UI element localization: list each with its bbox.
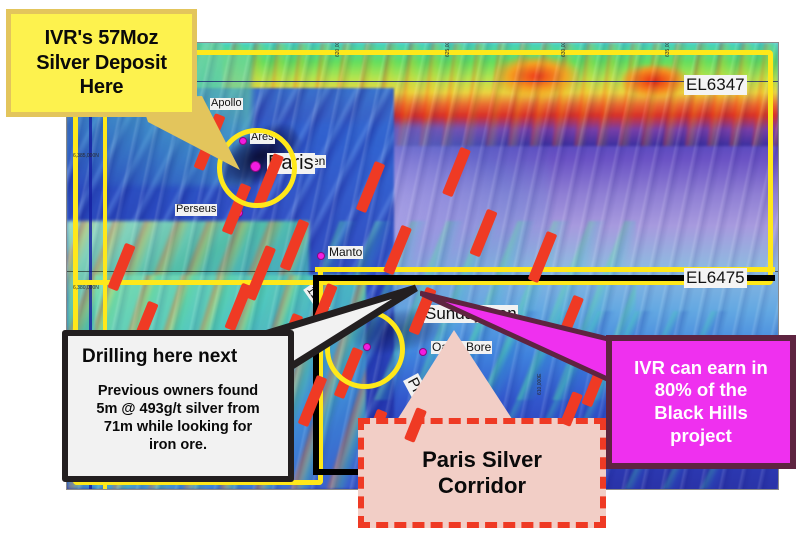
- drilling-body-line-3: 71m while looking for: [78, 418, 278, 436]
- ivr-deposit-callout[interactable]: IVR's 57Moz Silver Deposit Here: [6, 9, 197, 117]
- coord-label-6385000N: 6,385,000N: [73, 153, 99, 159]
- drilling-callout-body: Previous owners found 5m @ 493g/t silver…: [78, 382, 278, 455]
- drilling-callout-heading: Drilling here next: [78, 347, 278, 368]
- corridor-callout-text: Paris Silver Corridor: [422, 447, 542, 500]
- map-gridline-mid: [67, 271, 778, 272]
- drilling-callout[interactable]: Drilling here next Previous owners found…: [62, 330, 294, 482]
- coord-label-630000E: 635,000E: [665, 42, 671, 57]
- coord-label-620000E: 625,000E: [445, 42, 451, 57]
- map-label-perseus: Perseus: [175, 204, 217, 216]
- ivr-deposit-line-1: IVR's 57Moz: [36, 26, 167, 50]
- corridor-line-1: Paris Silver: [422, 447, 542, 473]
- earn-in-line-3: Black Hills: [634, 402, 768, 425]
- paris-silver-corridor-callout[interactable]: Paris Silver Corridor: [358, 418, 606, 528]
- coord-label-6380000N: 6,380,000N: [73, 285, 99, 291]
- ivr-deposit-line-3: Here: [36, 75, 167, 99]
- earn-in-callout[interactable]: IVR can earn in 80% of the Black Hills p…: [606, 335, 796, 469]
- earn-in-line-1: IVR can earn in: [634, 357, 768, 380]
- ivr-deposit-line-2: Silver Deposit: [36, 51, 167, 75]
- drilling-body-line-2: 5m @ 493g/t silver from: [78, 400, 278, 418]
- magenta-callout-tail: [420, 285, 620, 385]
- map-label-manto: Manto: [328, 246, 363, 259]
- prospect-dot-manto[interactable]: [317, 252, 325, 260]
- corridor-line-2: Corridor: [422, 473, 542, 499]
- coord-label-625000E: 630,000E: [561, 42, 567, 57]
- drilling-body-line-1: Previous owners found: [78, 382, 278, 400]
- earn-in-callout-text: IVR can earn in 80% of the Black Hills p…: [634, 357, 768, 447]
- earn-in-line-4: project: [634, 425, 768, 448]
- tenement-label-el6347: EL6347: [684, 75, 747, 95]
- earn-in-line-2: 80% of the: [634, 379, 768, 402]
- ivr-deposit-callout-text: IVR's 57Moz Silver Deposit Here: [36, 26, 167, 99]
- drilling-body-line-4: iron ore.: [78, 436, 278, 454]
- coord-label-615000E: 620,000E: [335, 42, 341, 57]
- tenement-label-el6475: EL6475: [684, 268, 747, 288]
- slide-canvas: Apollo Ares Helen Paris Perseus Manto Su…: [0, 0, 800, 538]
